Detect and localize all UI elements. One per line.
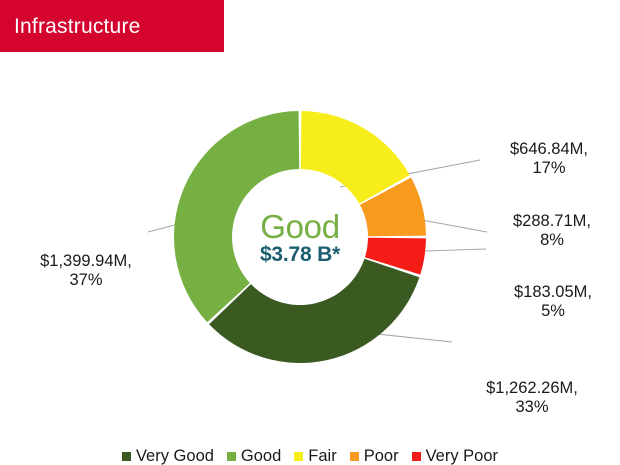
callout-very-good-amount: $1,262.26M,	[486, 379, 578, 397]
title-banner: Infrastructure	[0, 0, 224, 52]
callout-good-amount: $1,399.94M,	[40, 252, 132, 270]
callout-fair-amount: $646.84M,	[510, 140, 588, 158]
legend-item-fair[interactable]: Fair	[294, 448, 336, 465]
legend-swatch-icon	[350, 452, 359, 461]
callout-fair-percent: 17%	[487, 159, 611, 178]
callout-poor-percent: 8%	[493, 231, 611, 250]
donut-slice-good[interactable]	[174, 111, 299, 322]
callout-fair: $646.84M, 17%	[487, 140, 611, 178]
callout-poor: $288.71M, 8%	[493, 212, 611, 250]
legend-swatch-icon	[227, 452, 236, 461]
callout-very-poor: $183.05M, 5%	[492, 283, 614, 321]
callout-very-good: $1,262.26M, 33%	[456, 379, 608, 417]
legend-swatch-icon	[122, 452, 131, 461]
callout-poor-amount: $288.71M,	[513, 212, 591, 230]
donut-chart: Good $3.78 B* $646.84M, 17% $288.71M, 8%…	[0, 52, 620, 465]
legend-item-label: Fair	[308, 448, 336, 465]
callout-very-poor-percent: 5%	[492, 302, 614, 321]
donut-slices	[174, 111, 426, 363]
legend-item-label: Very Poor	[426, 448, 498, 465]
legend-swatch-icon	[412, 452, 421, 461]
legend-item-label: Good	[241, 448, 281, 465]
legend-item-very-poor[interactable]: Very Poor	[412, 448, 498, 465]
legend-item-label: Very Good	[136, 448, 214, 465]
legend-item-poor[interactable]: Poor	[350, 448, 399, 465]
legend-item-very-good[interactable]: Very Good	[122, 448, 214, 465]
legend-swatch-icon	[294, 452, 303, 461]
callout-good-percent: 37%	[16, 271, 156, 290]
legend-item-good[interactable]: Good	[227, 448, 281, 465]
page-title: Infrastructure	[14, 16, 141, 37]
slide-canvas: Infrastructure Good $3.78 B* $646.84M, 1…	[0, 0, 620, 465]
callout-good: $1,399.94M, 37%	[16, 252, 156, 290]
callout-very-poor-amount: $183.05M,	[514, 283, 592, 301]
callout-very-good-percent: 33%	[456, 398, 608, 417]
chart-legend: Very GoodGoodFairPoorVery Poor	[0, 448, 620, 465]
legend-item-label: Poor	[364, 448, 399, 465]
